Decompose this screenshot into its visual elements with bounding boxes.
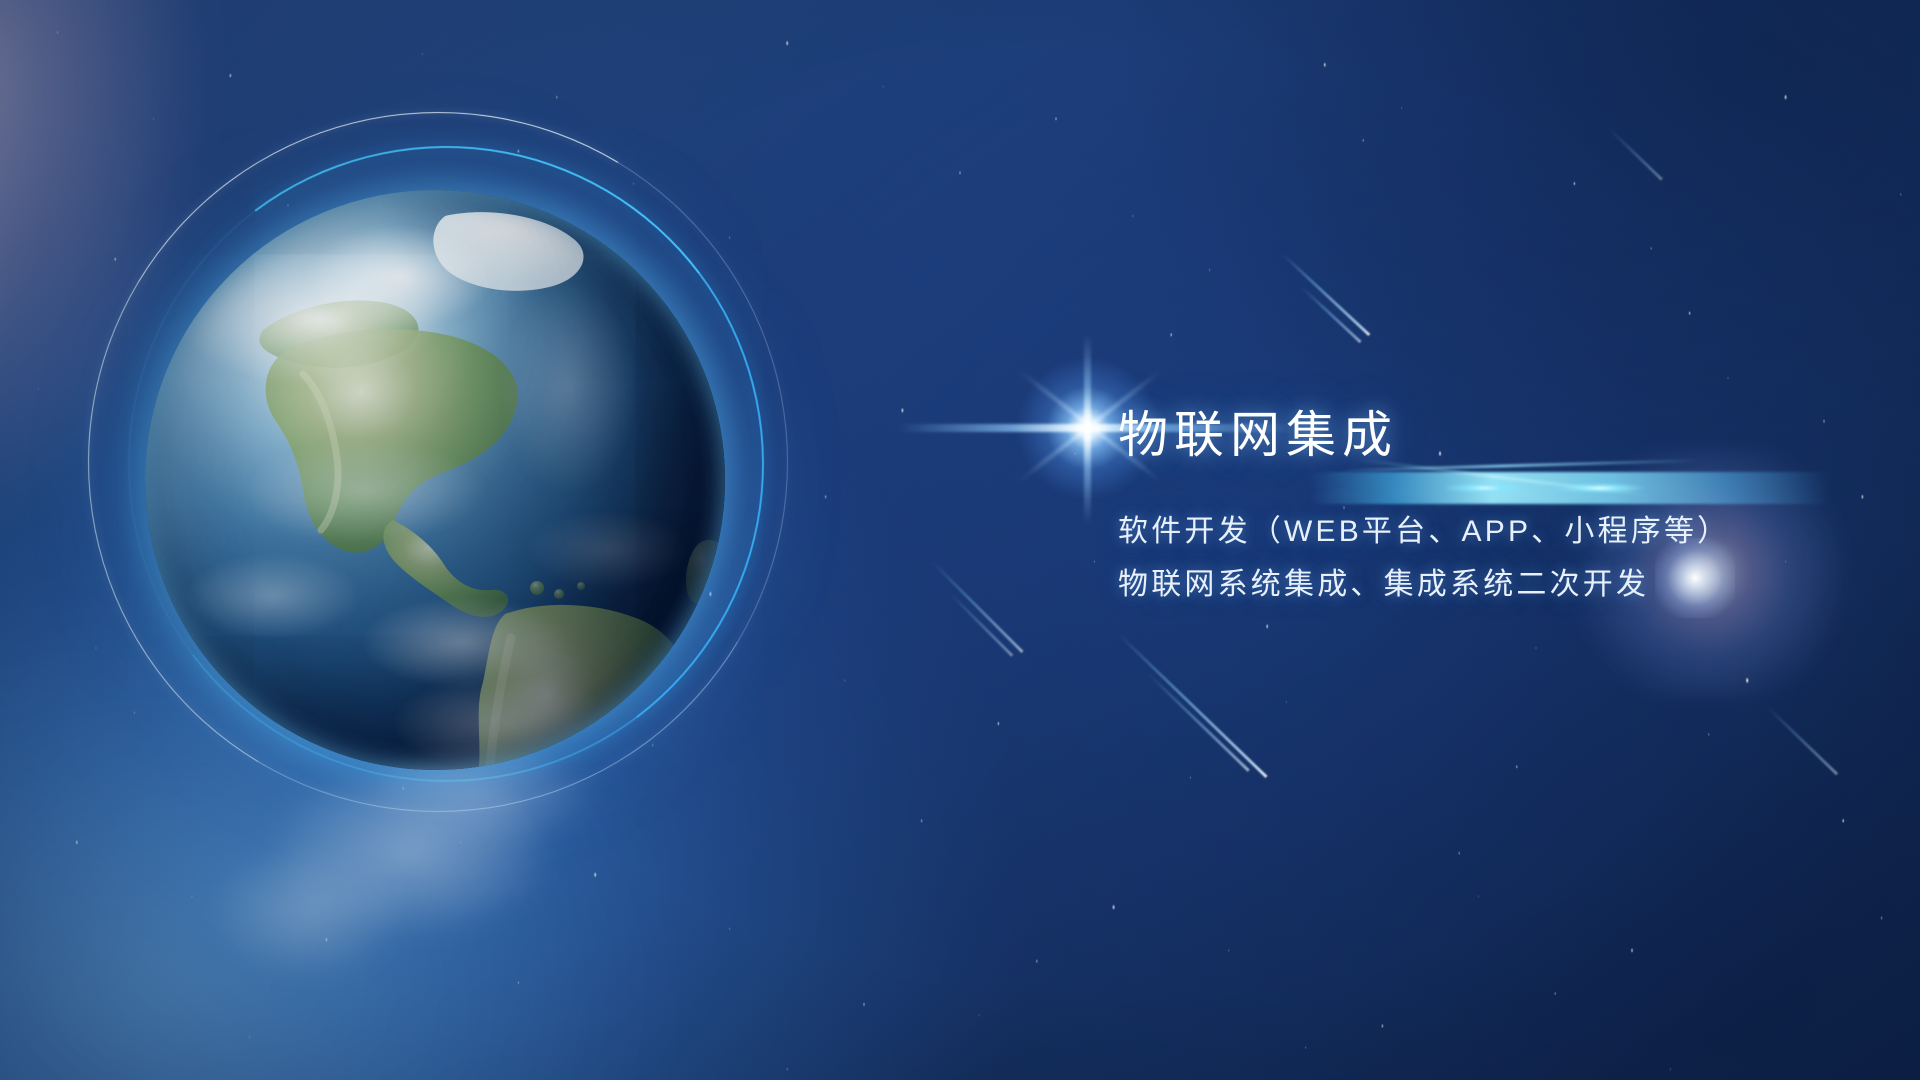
banner-subtitle-list: 软件开发（WEB平台、APP、小程序等） 物联网系统集成、集成系统二次开发	[1118, 505, 1878, 612]
meteor-streak-icon	[1118, 633, 1268, 778]
banner-subtitle-1: 软件开发（WEB平台、APP、小程序等）	[1118, 505, 1878, 558]
banner-subtitle-2: 物联网系统集成、集成系统二次开发	[1118, 558, 1878, 611]
globe-rim-light	[145, 190, 725, 770]
meteor-streak-icon	[1609, 128, 1663, 180]
meteor-streak-icon	[1767, 706, 1838, 775]
meteor-streak-icon	[1282, 253, 1370, 336]
earth-globe-americas-icon	[145, 190, 725, 770]
banner-text-block: 物联网集成 软件开发（WEB平台、APP、小程序等） 物联网系统集成、集成系统二…	[1118, 408, 1878, 612]
hero-banner: 物联网集成 软件开发（WEB平台、APP、小程序等） 物联网系统集成、集成系统二…	[0, 0, 1920, 1080]
banner-title: 物联网集成	[1118, 408, 1878, 463]
meteor-streak-icon	[1301, 286, 1362, 343]
meteor-streak-icon	[1147, 672, 1250, 771]
earth-globe-graphic	[0, 0, 960, 1080]
lens-flare-vertical-ray	[1084, 334, 1091, 524]
